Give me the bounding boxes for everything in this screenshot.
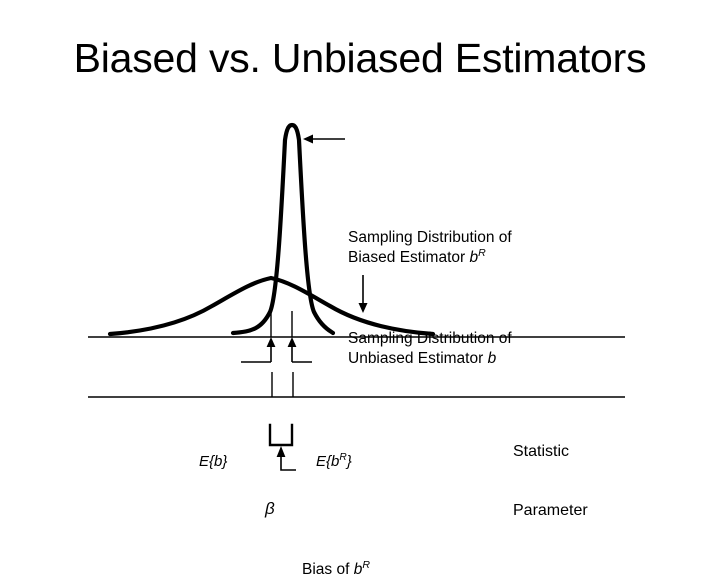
expectation-unbiased-label: E{b} bbox=[199, 452, 227, 472]
unbiased-estimator-annotation: Sampling Distribution of Unbiased Estima… bbox=[348, 329, 512, 369]
biased-estimator-annotation: Sampling Distribution of Biased Estimato… bbox=[348, 228, 512, 268]
estimator-sampling-distribution-figure: Sampling Distribution of Biased Estimato… bbox=[0, 100, 720, 520]
unbiased-annotation-prefix: Unbiased Estimator bbox=[348, 350, 488, 367]
biased-annotation-line1: Sampling Distribution of bbox=[348, 228, 512, 248]
statistic-axis-label: Statistic bbox=[513, 442, 569, 462]
expectation-biased-suffix: } bbox=[347, 453, 352, 470]
biased-estimator-superscript: R bbox=[478, 247, 486, 259]
unbiased-estimator-symbol: b bbox=[488, 350, 497, 367]
bias-bracket bbox=[270, 425, 292, 445]
expectation-biased-superscript: R bbox=[339, 452, 346, 463]
parameter-axis-label: Parameter bbox=[513, 501, 588, 521]
figure-svg bbox=[0, 100, 720, 520]
expectation-biased-prefix: E{b bbox=[316, 453, 339, 470]
bias-annotation-prefix: Bias of bbox=[302, 561, 354, 578]
expectation-biased-label: E{bR} bbox=[316, 452, 352, 472]
arrow-to-expectation-biased bbox=[288, 337, 297, 362]
unbiased-annotation-line1: Sampling Distribution of bbox=[348, 329, 512, 349]
biased-annotation-prefix: Biased Estimator bbox=[348, 249, 469, 266]
biased-annotation-line2: Biased Estimator bR bbox=[348, 248, 512, 268]
bias-leader-arrow bbox=[277, 446, 296, 470]
bias-annotation: Bias of bR bbox=[302, 560, 370, 580]
unbiased-annotation-line2: Unbiased Estimator b bbox=[348, 349, 512, 369]
arrow-to-expectation-unbiased bbox=[267, 337, 276, 362]
bias-estimator-symbol: b bbox=[354, 561, 363, 578]
biased-distribution-curve bbox=[233, 125, 333, 333]
page-title: Biased vs. Unbiased Estimators bbox=[0, 34, 720, 82]
bias-estimator-superscript: R bbox=[362, 559, 370, 571]
unbiased-label-leader-arrow bbox=[359, 275, 368, 313]
parameter-symbol-label: β bbox=[265, 499, 275, 519]
biased-label-leader-arrow bbox=[303, 135, 345, 144]
slide-canvas: Biased vs. Unbiased Estimators bbox=[0, 0, 720, 540]
biased-estimator-symbol: b bbox=[469, 249, 478, 266]
